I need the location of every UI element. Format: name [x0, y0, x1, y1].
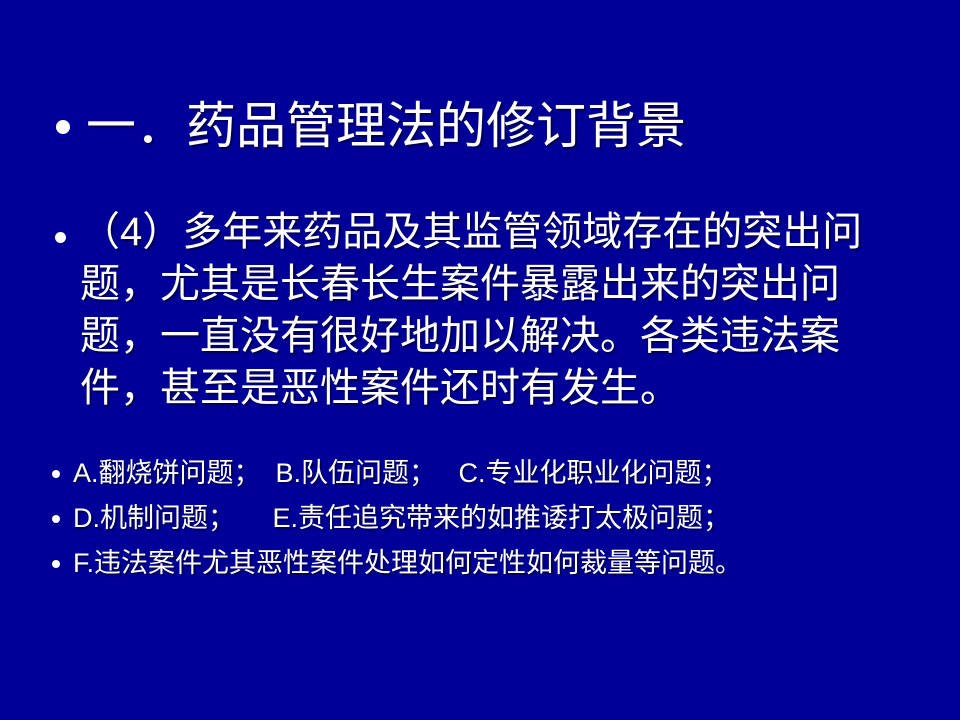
- list-item: A.翻烧饼问题； B.队伍问题； C.专业化职业化问题；: [52, 455, 942, 500]
- list-item-label: A.翻烧饼问题； B.队伍问题； C.专业化职业化问题；: [73, 455, 729, 491]
- slide-title: 一．药品管理法的修订背景: [86, 96, 686, 156]
- list-bullet-icon: [52, 560, 60, 568]
- list-bullet-icon: [52, 515, 60, 523]
- presentation-slide: 一．药品管理法的修订背景 （4）多年来药品及其监管领域存在的突出问题，尤其是长春…: [0, 0, 960, 720]
- sub-item-list: A.翻烧饼问题； B.队伍问题； C.专业化职业化问题； D.机制问题； E.责…: [52, 455, 942, 590]
- paragraph-bullet-icon: [55, 232, 66, 243]
- main-paragraph-row: （4）多年来药品及其监管领域存在的突出问题，尤其是长春长生案件暴露出来的突出问题…: [55, 206, 935, 414]
- list-item: D.机制问题； E.责任追究带来的如推诿打太极问题；: [52, 500, 942, 545]
- title-bullet-icon: [56, 120, 70, 134]
- main-paragraph-text: （4）多年来药品及其监管领域存在的突出问题，尤其是长春长生案件暴露出来的突出问题…: [80, 206, 880, 414]
- slide-title-row: 一．药品管理法的修订背景: [56, 96, 916, 156]
- list-item-label: F.违法案件尤其恶性案件处理如何定性如何裁量等问题。: [73, 545, 742, 581]
- list-item-label: D.机制问题； E.责任追究带来的如推诿打太极问题；: [73, 500, 730, 536]
- list-bullet-icon: [52, 470, 60, 478]
- list-item: F.违法案件尤其恶性案件处理如何定性如何裁量等问题。: [52, 545, 942, 590]
